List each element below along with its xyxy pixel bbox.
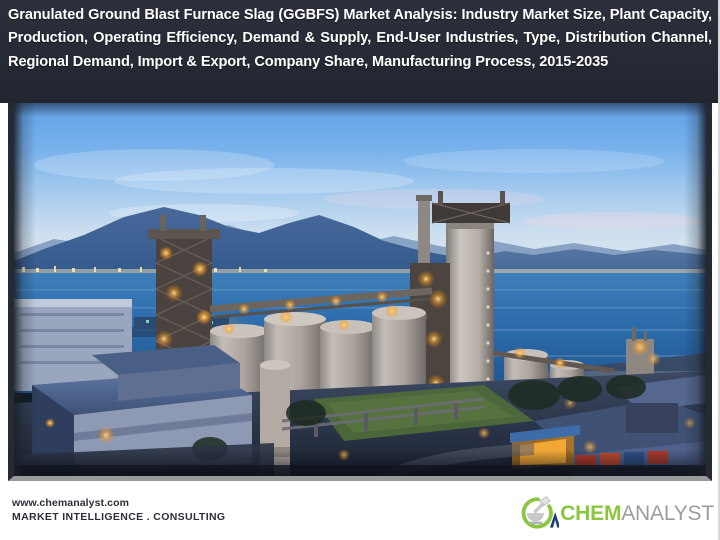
chemanalyst-logo[interactable]: CHEMANALYST [517, 494, 714, 532]
logo-analyst-text: ANALYST [621, 503, 714, 524]
mortar-and-pestle-icon [517, 495, 559, 531]
footer-text-block: www.chemanalyst.com MARKET INTELLIGENCE … [12, 496, 225, 525]
hero-image-frame [8, 103, 712, 481]
slide-page: Granulated Ground Blast Furnace Slag (GG… [0, 0, 720, 540]
footer-bar: www.chemanalyst.com MARKET INTELLIGENCE … [0, 486, 720, 540]
logo-wordmark: CHEMANALYST [560, 503, 714, 524]
hero-image [14, 103, 706, 476]
logo-chem-text: CHEM [560, 503, 621, 524]
page-title: Granulated Ground Blast Furnace Slag (GG… [8, 4, 712, 74]
header-banner: Granulated Ground Blast Furnace Slag (GG… [0, 0, 720, 103]
industrial-plant-illustration [14, 103, 706, 476]
footer-tagline: MARKET INTELLIGENCE . CONSULTING [12, 510, 225, 525]
website-url[interactable]: www.chemanalyst.com [12, 496, 225, 510]
